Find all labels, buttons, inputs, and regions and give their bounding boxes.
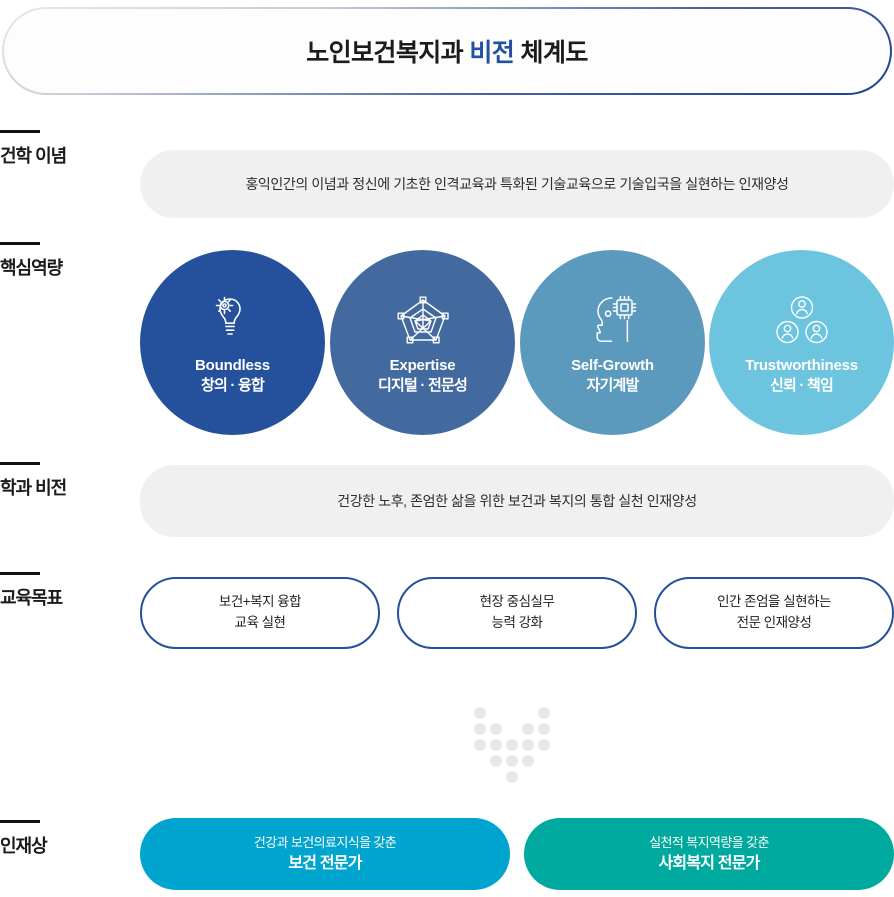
arrow-dot [522, 739, 534, 751]
page-title-prefix: 노인보건복지과 [306, 39, 469, 67]
goal-line-1: 보건+복지 융합 [219, 592, 301, 613]
section-label-text: 건학 이념 [0, 142, 140, 168]
talent-pills: 건강과 보건의료지식을 갖춘 보건 전문가 실천적 복지역량을 갖춘 사회복지 … [140, 818, 894, 890]
arrow-dot [522, 723, 534, 735]
section-label-text: 학과 비전 [0, 474, 140, 500]
section-label-text: 교육목표 [0, 584, 140, 610]
competency-circle-trustworthiness[interactable]: Trustworthiness 신뢰 · 책임 [709, 250, 894, 435]
page-title-box: 노인보건복지과 비전 체계도 [2, 7, 892, 95]
competency-en-label: Self-Growth [571, 357, 654, 376]
down-arrow-dot-pattern [474, 707, 548, 781]
label-rule [0, 130, 40, 133]
section-label-core-competency: 핵심역량 [0, 242, 140, 280]
vision-system-diagram: 노인보건복지과 비전 체계도 건학 이념 홍익인간의 이념과 정신에 기초한 인… [0, 0, 894, 897]
competency-en-label: Trustworthiness [745, 357, 858, 376]
goal-line-2: 전문 인재양성 [737, 613, 812, 634]
arrow-dot [474, 723, 486, 735]
talent-subtitle: 건강과 보건의료지식을 갖춘 [254, 833, 396, 853]
label-rule [0, 242, 40, 245]
competency-circle-boundless[interactable]: Boundless 창의 · 융합 [140, 250, 325, 435]
arrow-dot [538, 707, 550, 719]
arrow-dot [490, 739, 502, 751]
section-label-philosophy: 건학 이념 [0, 130, 140, 168]
competency-en-label: Expertise [390, 357, 456, 376]
arrow-dot [538, 739, 550, 751]
philosophy-text: 홍익인간의 이념과 정신에 기초한 인격교육과 특화된 기술교육으로 기술입국을… [245, 174, 788, 194]
competency-ko-label: 신뢰 · 책임 [770, 376, 833, 396]
arrow-dot [506, 771, 518, 783]
competency-circle-expertise[interactable]: Expertise 디지털 · 전문성 [330, 250, 515, 435]
section-label-text: 인재상 [0, 832, 140, 858]
arrow-dot [506, 739, 518, 751]
philosophy-banner: 홍익인간의 이념과 정신에 기초한 인격교육과 특화된 기술교육으로 기술입국을… [140, 150, 894, 218]
arrow-dot [474, 739, 486, 751]
head-chip-icon [586, 289, 640, 347]
education-goal-pills: 보건+복지 융합 교육 실현 현장 중심실무 능력 강화 인간 존엄을 실현하는… [140, 577, 894, 649]
section-label-education-goals: 교육목표 [0, 572, 140, 610]
section-label-department-vision: 학과 비전 [0, 462, 140, 500]
label-rule [0, 820, 40, 823]
talent-pill-social-welfare-expert[interactable]: 실천적 복지역량을 갖춘 사회복지 전문가 [524, 818, 894, 890]
competency-ko-label: 창의 · 융합 [201, 376, 264, 396]
section-label-talent: 인재상 [0, 820, 140, 858]
arrow-dot [522, 755, 534, 767]
department-vision-text: 건강한 노후, 존엄한 삶을 위한 보건과 복지의 통합 실천 인재양성 [337, 491, 696, 511]
radar-chart-icon [395, 289, 451, 347]
arrow-dot [474, 707, 486, 719]
education-goal-pill[interactable]: 현장 중심실무 능력 강화 [397, 577, 637, 649]
talent-title: 보건 전문가 [288, 852, 361, 875]
arrow-dot [490, 723, 502, 735]
lightbulb-gear-icon [207, 289, 259, 347]
label-rule [0, 572, 40, 575]
education-goal-pill[interactable]: 인간 존엄을 실현하는 전문 인재양성 [654, 577, 894, 649]
competency-circle-self-growth[interactable]: Self-Growth 자기계발 [520, 250, 705, 435]
competency-ko-label: 디지털 · 전문성 [378, 376, 467, 396]
goal-line-2: 능력 강화 [492, 613, 543, 634]
department-vision-banner: 건강한 노후, 존엄한 삶을 위한 보건과 복지의 통합 실천 인재양성 [140, 465, 894, 537]
talent-pill-health-expert[interactable]: 건강과 보건의료지식을 갖춘 보건 전문가 [140, 818, 510, 890]
talent-title: 사회복지 전문가 [658, 852, 759, 875]
arrow-dot [538, 723, 550, 735]
education-goal-pill[interactable]: 보건+복지 융합 교육 실현 [140, 577, 380, 649]
goal-line-1: 인간 존엄을 실현하는 [717, 592, 831, 613]
page-title: 노인보건복지과 비전 체계도 [306, 33, 588, 69]
competency-en-label: Boundless [195, 357, 270, 376]
core-competency-circles: Boundless 창의 · 융합 Expertise 디지털 · 전 [140, 250, 894, 435]
arrow-dot [490, 755, 502, 767]
label-rule [0, 462, 40, 465]
competency-ko-label: 자기계발 [586, 376, 638, 396]
goal-line-1: 현장 중심실무 [480, 592, 555, 613]
goal-line-2: 교육 실현 [235, 613, 286, 634]
three-people-icon [774, 289, 830, 347]
page-title-accent: 비전 [469, 39, 514, 67]
talent-subtitle: 실천적 복지역량을 갖춘 [649, 833, 769, 853]
arrow-dot [506, 755, 518, 767]
section-label-text: 핵심역량 [0, 254, 140, 280]
page-title-suffix: 체계도 [514, 39, 588, 67]
